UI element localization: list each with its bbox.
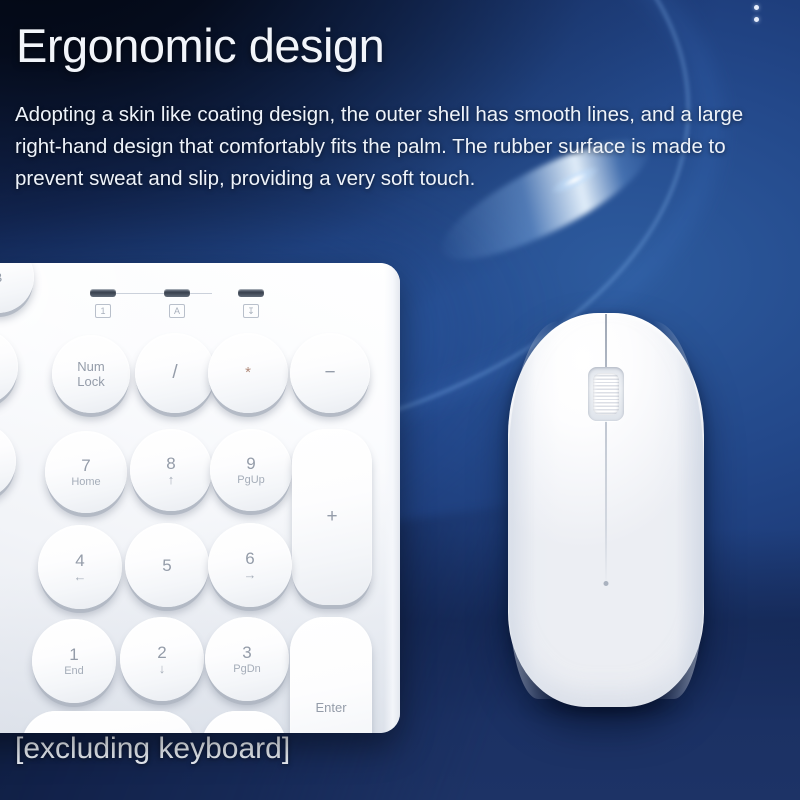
caps-lock-indicator: A — [164, 289, 190, 318]
caps-lock-glyph-icon: A — [169, 304, 185, 318]
scroll-wheel-icon — [593, 373, 619, 415]
numpad-5-key: 5 — [125, 523, 209, 607]
numpad-0-key: 0 Ins — [22, 711, 194, 733]
exclusion-note: [excluding keyboard] — [15, 732, 290, 766]
num-lock-key: Num Lock — [52, 335, 130, 413]
backspace-key: B — [0, 263, 34, 313]
scroll-lock-indicator: ↧ — [238, 289, 264, 318]
divide-key: / — [135, 333, 215, 413]
minus-key: − — [290, 333, 370, 413]
body-description: Adopting a skin like coating design, the… — [15, 99, 790, 195]
dot-2 — [754, 17, 759, 22]
numpad-4-key: 4 ← — [38, 525, 122, 609]
mouse-center-seam — [605, 314, 607, 586]
mouse-seam-end-dot — [604, 581, 609, 586]
numpad-3-key: 3 PgDn — [205, 617, 289, 701]
numpad-1-key: 1 End — [32, 619, 116, 703]
numpad-9-key: 9 PgUp — [210, 429, 292, 511]
numpad-8-key: 8 ↑ — [130, 429, 212, 511]
enter-key: Enter — [290, 617, 372, 733]
page-title: Ergonomic design — [16, 18, 384, 73]
indicator-led-group: 1 A ↧ — [90, 289, 264, 318]
wireless-mouse-product-image — [508, 313, 704, 707]
multiply-key: * — [208, 333, 288, 413]
plus-key: + — [292, 429, 372, 605]
scroll-lock-glyph-icon: ↧ — [243, 304, 259, 318]
num-lock-indicator: 1 — [90, 289, 116, 318]
dot-1 — [754, 5, 759, 10]
vertical-dots-icon — [754, 5, 759, 22]
page-up-key: Up — [0, 329, 18, 405]
page-down-key: n — [0, 423, 16, 499]
numpad-7-key: 7 Home — [45, 431, 127, 513]
delete-key: Del — [202, 711, 286, 733]
product-banner: Ergonomic design Adopting a skin like co… — [0, 0, 800, 800]
keyboard-right-edge — [384, 263, 400, 733]
scroll-lock-led-icon — [238, 289, 264, 297]
numpad-6-key: 6 → — [208, 523, 292, 607]
caps-lock-led-icon — [164, 289, 190, 297]
num-lock-led-icon — [90, 289, 116, 297]
keyboard-product-image: 1 A ↧ B Up n Num Lock / — [0, 263, 400, 733]
numpad-2-key: 2 ↓ — [120, 617, 204, 701]
num-lock-glyph-icon: 1 — [95, 304, 111, 318]
